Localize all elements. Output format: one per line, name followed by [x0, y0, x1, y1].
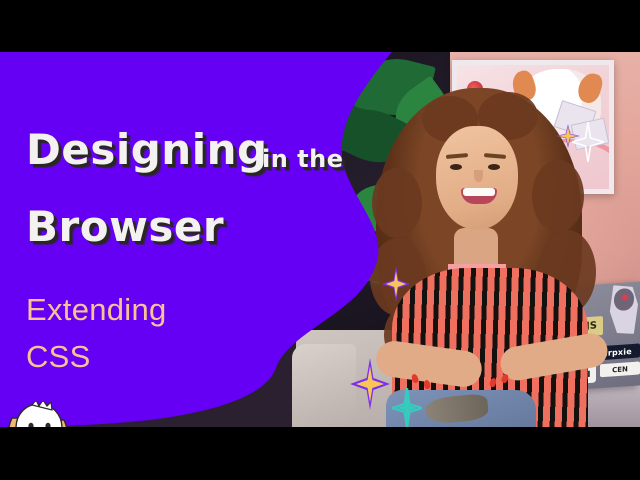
- dog-head: [16, 404, 62, 427]
- title-line-2: Browser: [26, 202, 224, 251]
- sparkle-gold-upper-icon: [382, 266, 410, 302]
- eye: [488, 164, 500, 170]
- sparkle-teal-icon: [392, 388, 422, 427]
- sticker-character: [608, 284, 638, 336]
- subtitle-line-1: Extending: [26, 292, 167, 328]
- letterbox-bottom: [0, 427, 640, 480]
- hair-curl: [532, 160, 584, 232]
- eye: [450, 164, 462, 170]
- letterbox-top: [0, 0, 640, 52]
- video-frame: JS Erpxie CEN ■■: [0, 52, 640, 427]
- dog-mascot-logo: [6, 402, 72, 427]
- title-line-1: Designing: [26, 125, 268, 174]
- subtitle-line-2: CSS: [26, 339, 91, 375]
- video-thumbnail: JS Erpxie CEN ■■: [0, 0, 640, 480]
- sparkle-white-wall-icon: [572, 122, 604, 162]
- teeth: [463, 188, 495, 196]
- nose: [474, 170, 483, 182]
- title-line-1-suffix: in the: [262, 145, 344, 173]
- sparkle-gold-lower-icon: [350, 358, 390, 410]
